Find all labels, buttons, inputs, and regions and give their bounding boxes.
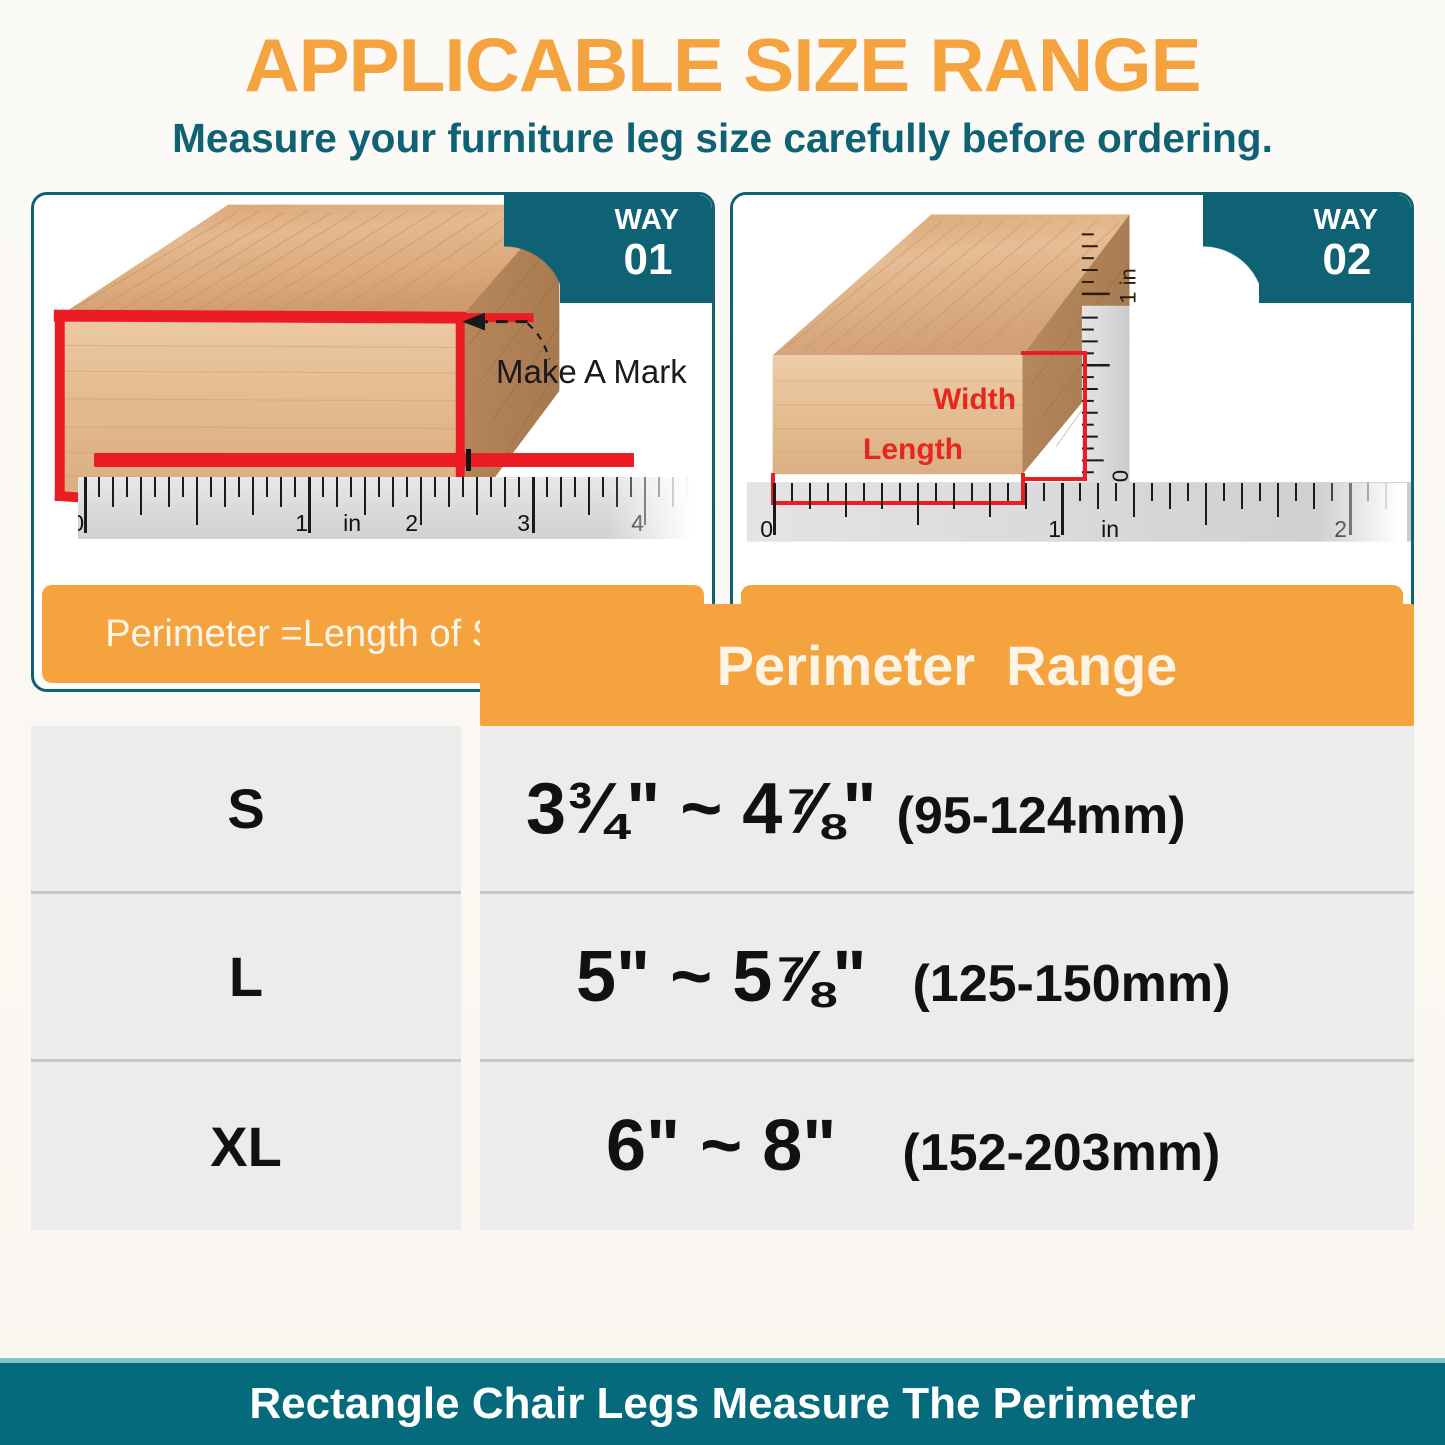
range-mm-s: (95-124mm): [897, 786, 1186, 846]
table-row: S 3¾" ~ 4⅞" (95-124mm): [31, 726, 1414, 894]
ruler2-label-1: 1: [1048, 516, 1061, 543]
cell-size-l: L: [31, 894, 461, 1062]
range-inches-s: 3¾" ~ 4⅞": [526, 768, 877, 850]
page-subtitle: Measure your furniture leg size carefull…: [7, 115, 1438, 162]
rope-mark: [466, 449, 471, 471]
range-mm-l: (125-150mm): [912, 954, 1230, 1014]
ruler-label-1: 1: [295, 510, 308, 537]
ruler-label-3: 3: [517, 510, 530, 537]
way-number: 01: [584, 235, 712, 285]
ruler2-label-in: in: [1101, 516, 1119, 543]
cell-range-xl: 6" ~ 8" (152-203mm): [480, 1062, 1414, 1230]
soft-rope: [94, 453, 634, 467]
footer-banner: Rectangle Chair Legs Measure The Perimet…: [0, 1363, 1445, 1445]
make-a-mark-label: Make A Mark: [496, 353, 687, 391]
way-02-badge: WAY 02: [1259, 195, 1411, 303]
length-label: Length: [863, 433, 963, 467]
range-inches-xl: 6" ~ 8": [606, 1105, 836, 1187]
way-number: 02: [1283, 235, 1411, 285]
ruler-horizontal-way02: 0 1 in 2: [747, 483, 1407, 545]
range-mm-xl: (152-203mm): [902, 1123, 1220, 1183]
way-01-illustration: Make A Mark: [34, 195, 712, 583]
ruler2-label-0: 0: [760, 516, 773, 543]
infographic-page: APPLICABLE SIZE RANGE Measure your furni…: [0, 0, 1445, 1445]
ruler-v-label-1in: 1 in: [1116, 268, 1142, 303]
ruler-horizontal-way01: 0 1 in 2 3 4: [78, 477, 698, 539]
table-row: XL 6" ~ 8" (152-203mm): [31, 1062, 1414, 1230]
way-label: WAY: [582, 204, 712, 237]
width-guide: [1021, 351, 1087, 355]
width-guide-b: [1021, 477, 1087, 481]
cell-size-s: S: [31, 726, 461, 894]
way-02-illustration: 0 1 in Width Length: [733, 195, 1411, 583]
ruler-label-in: in: [343, 510, 361, 537]
ruler2-fade: [1317, 483, 1407, 545]
header-range: Perimeter Range: [480, 604, 1414, 726]
size-table: Size Perimeter Range S 3¾" ~ 4⅞" (95-124…: [31, 726, 1414, 1230]
way-label: WAY: [1281, 204, 1411, 237]
width-label: Width: [933, 383, 1016, 417]
ruler-label-2: 2: [405, 510, 418, 537]
ruler-fade: [608, 477, 698, 539]
table-row: L 5" ~ 5⅞" (125-150mm): [31, 894, 1414, 1062]
range-inches-l: 5" ~ 5⅞": [576, 936, 866, 1018]
way-01-badge: WAY 01: [560, 195, 712, 303]
cell-range-s: 3¾" ~ 4⅞" (95-124mm): [480, 726, 1414, 894]
ruler-label-0: 0: [78, 510, 84, 537]
cell-range-l: 5" ~ 5⅞" (125-150mm): [480, 894, 1414, 1062]
ruler-v-label-0: 0: [1108, 470, 1134, 482]
cell-size-xl: XL: [31, 1062, 461, 1230]
width-guide-v: [1083, 351, 1087, 481]
page-title: APPLICABLE SIZE RANGE: [0, 22, 1445, 108]
